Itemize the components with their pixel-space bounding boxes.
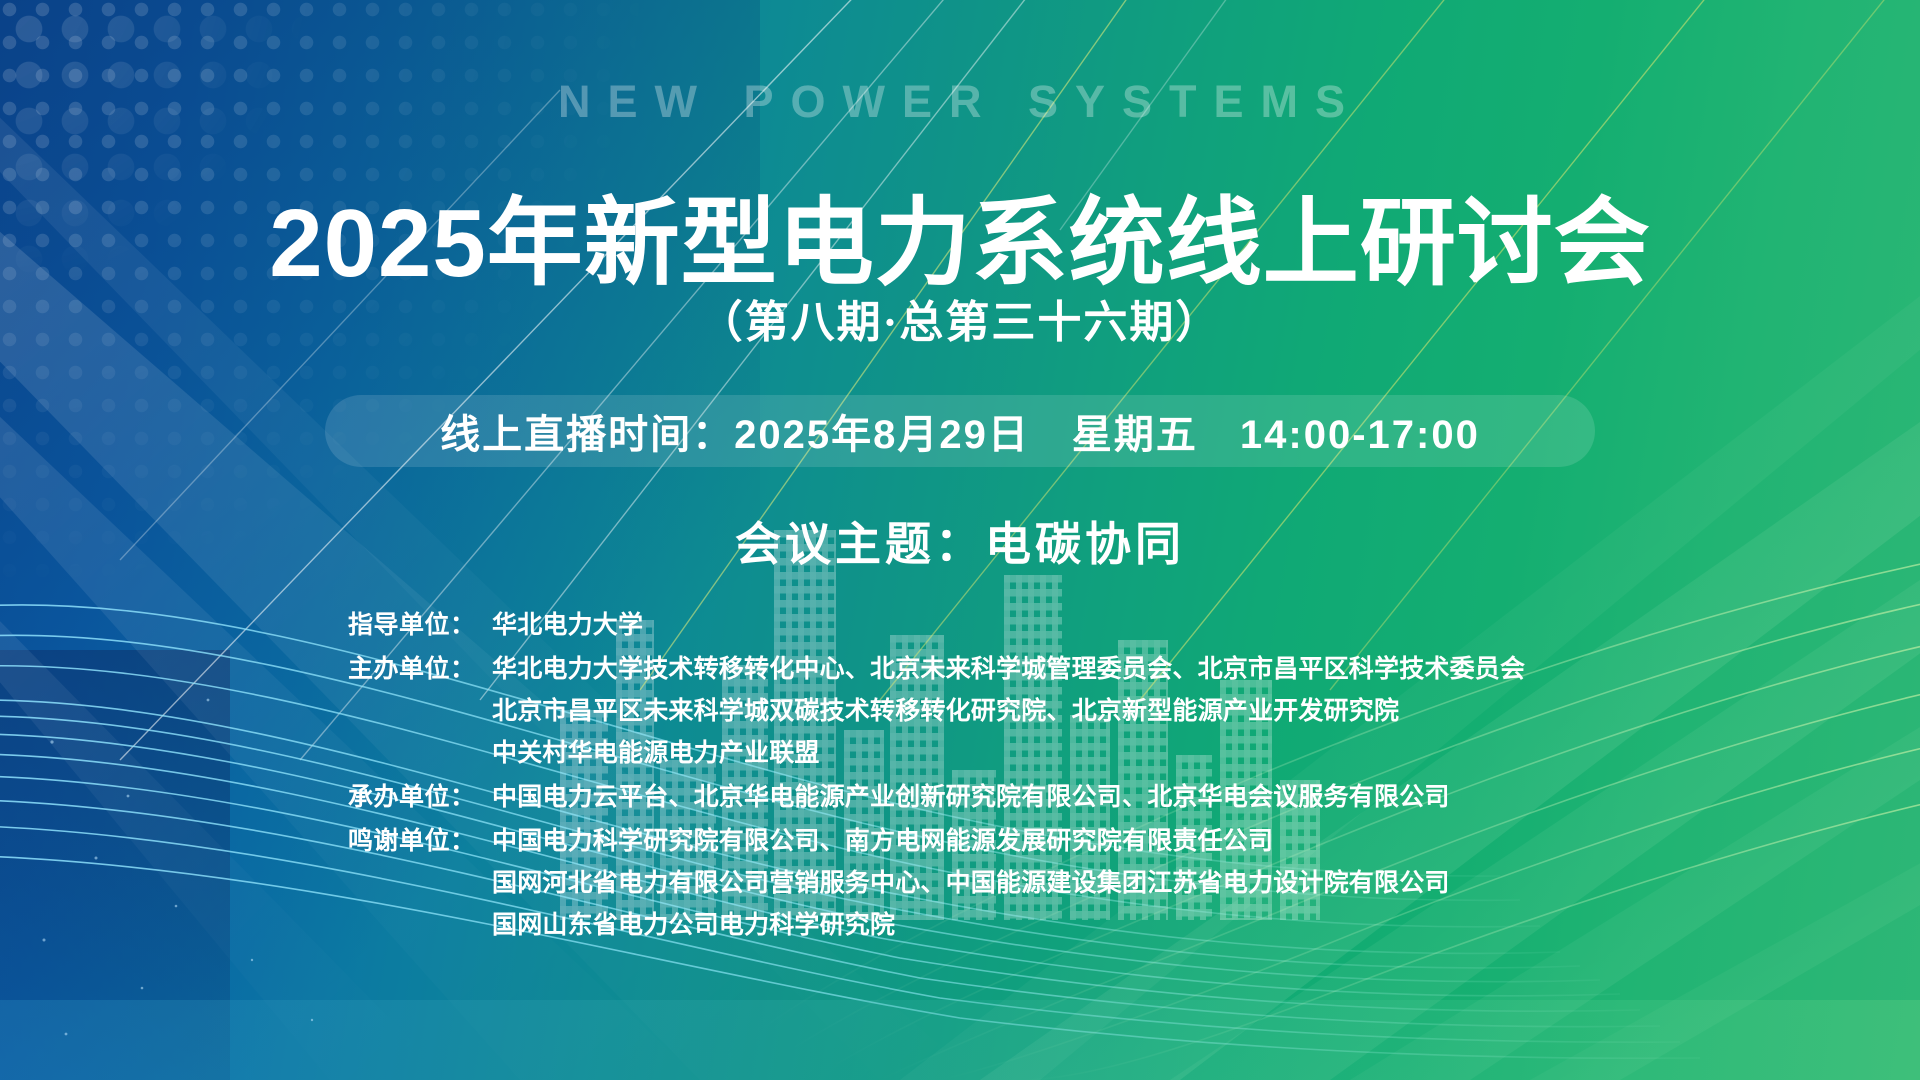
org-values: 华北电力大学 (492, 604, 1648, 646)
org-value: 国网河北省电力有限公司营销服务中心、中国能源建设集团江苏省电力设计院有限公司 (492, 862, 1648, 904)
org-row-organizer: 承办单位： 中国电力云平台、北京华电能源产业创新研究院有限公司、北京华电会议服务… (348, 776, 1648, 818)
org-values: 华北电力大学技术转移转化中心、北京未来科学城管理委员会、北京市昌平区科学技术委员… (492, 648, 1648, 774)
org-value: 国网山东省电力公司电力科学研究院 (492, 904, 1648, 946)
org-value: 中国电力科学研究院有限公司、南方电网能源发展研究院有限责任公司 (492, 820, 1648, 862)
kicker-text: NEW POWER SYSTEMS (0, 76, 1920, 128)
org-label: 主办单位： (348, 648, 492, 690)
poster-content: NEW POWER SYSTEMS 2025年新型电力系统线上研讨会 （第八期·… (0, 0, 1920, 1080)
livestream-time-banner: 线上直播时间：2025年8月29日 星期五 14:00-17:00 (325, 395, 1595, 467)
org-label: 指导单位： (348, 604, 492, 646)
org-value: 华北电力大学技术转移转化中心、北京未来科学城管理委员会、北京市昌平区科学技术委员… (492, 648, 1648, 690)
subtitle: （第八期·总第三十六期） (0, 286, 1920, 350)
org-value: 北京市昌平区未来科学城双碳技术转移转化研究院、北京新型能源产业开发研究院 (492, 690, 1648, 732)
org-values: 中国电力云平台、北京华电能源产业创新研究院有限公司、北京华电会议服务有限公司 (492, 776, 1648, 818)
org-label: 承办单位： (348, 776, 492, 818)
livestream-time-text: 线上直播时间：2025年8月29日 星期五 14:00-17:00 (440, 402, 1480, 460)
webinar-poster: NEW POWER SYSTEMS 2025年新型电力系统线上研讨会 （第八期·… (0, 0, 1920, 1080)
org-label: 鸣谢单位： (348, 820, 492, 862)
page-title: 2025年新型电力系统线上研讨会 (0, 192, 1920, 296)
org-value: 华北电力大学 (492, 604, 1648, 646)
org-row-acknowledgement: 鸣谢单位： 中国电力科学研究院有限公司、南方电网能源发展研究院有限责任公司 国网… (348, 820, 1648, 946)
org-value: 中国电力云平台、北京华电能源产业创新研究院有限公司、北京华电会议服务有限公司 (492, 776, 1648, 818)
org-value: 中关村华电能源电力产业联盟 (492, 732, 1648, 774)
org-row-host: 主办单位： 华北电力大学技术转移转化中心、北京未来科学城管理委员会、北京市昌平区… (348, 648, 1648, 774)
org-row-guidance: 指导单位： 华北电力大学 (348, 604, 1648, 646)
organization-list: 指导单位： 华北电力大学 主办单位： 华北电力大学技术转移转化中心、北京未来科学… (348, 604, 1648, 948)
conference-theme: 会议主题：电碳协同 (0, 508, 1920, 574)
org-values: 中国电力科学研究院有限公司、南方电网能源发展研究院有限责任公司 国网河北省电力有… (492, 820, 1648, 946)
